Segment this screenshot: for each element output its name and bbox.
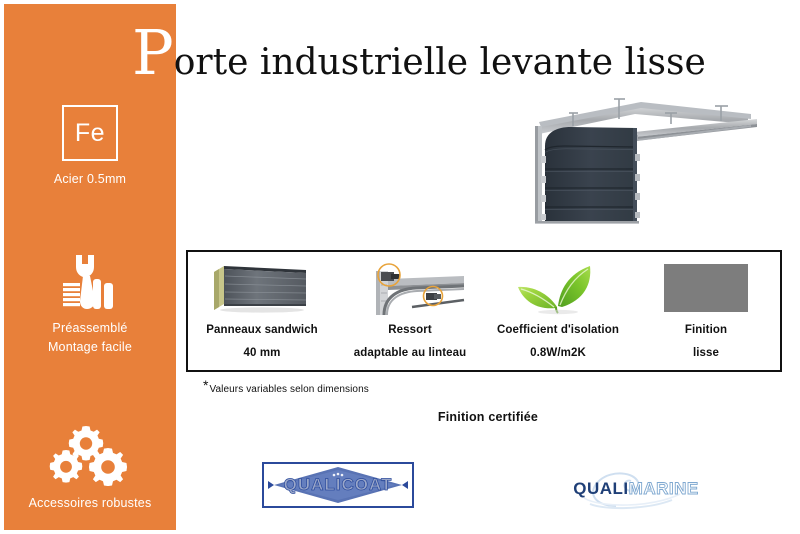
feature-column-isolation: Coefficient d'isolation 0.8W/m2K xyxy=(484,252,632,370)
feature-column-finition: Finition lisse xyxy=(632,252,780,370)
qualimarine-logo: QUALI MARINE xyxy=(560,468,712,510)
qualimarine-wordmark-primary: QUALI xyxy=(573,479,628,499)
sidebar-item-acier-label: Acier 0.5mm xyxy=(4,170,176,189)
qualicoat-logo: QUALICOAT xyxy=(262,462,414,508)
finish-swatch-icon xyxy=(632,257,780,319)
fe-square-icon: Fe xyxy=(62,105,118,161)
certification-label: Finition certifiée xyxy=(0,410,800,424)
feature-value-finition: lisse xyxy=(693,347,719,359)
feature-title-panneaux: Panneaux sandwich xyxy=(206,324,318,336)
feature-value-panneaux: 40 mm xyxy=(244,347,281,359)
industrial-sectional-door-image xyxy=(505,88,790,228)
wrench-assembly-icon xyxy=(4,249,176,311)
sidebar-item-preassemble-label-1: Préassemblé xyxy=(4,319,176,338)
sidebar-item-acier: Fe Acier 0.5mm xyxy=(4,105,176,189)
gears-icon xyxy=(4,424,176,486)
product-sheet-page: Fe Acier 0.5mm xyxy=(0,0,800,534)
sidebar-item-preassemble-label-2: Montage facile xyxy=(4,338,176,357)
sidebar-item-accessoires-label: Accessoires robustes xyxy=(4,494,176,513)
feature-title-ressort: Ressort xyxy=(388,324,432,336)
feature-column-ressort: Ressort adaptable au linteau xyxy=(336,252,484,370)
page-title-initial: P xyxy=(132,24,173,82)
sidebar-item-preassemble: Préassemblé Montage facile xyxy=(4,249,176,357)
sandwich-panel-image xyxy=(188,257,336,319)
footnote: * Valeurs variables selon dimensions xyxy=(203,380,369,395)
page-title: P orte industrielle levante lisse xyxy=(132,24,706,84)
features-panel: Panneaux sandwich 40 mm xyxy=(186,250,782,372)
page-title-rest: orte industrielle levante lisse xyxy=(174,43,706,83)
fe-symbol-label: Fe xyxy=(75,121,105,146)
spring-mechanism-image xyxy=(336,257,484,319)
feature-title-finition: Finition xyxy=(685,324,727,336)
footnote-asterisk: * xyxy=(203,380,208,390)
feature-value-isolation: 0.8W/m2K xyxy=(530,347,586,359)
feature-value-ressort: adaptable au linteau xyxy=(354,347,467,359)
feature-column-panneaux: Panneaux sandwich 40 mm xyxy=(188,252,336,370)
sidebar-item-accessoires: Accessoires robustes xyxy=(4,424,176,513)
green-leaves-icon xyxy=(484,257,632,319)
qualimarine-wordmark-secondary: MARINE xyxy=(629,479,699,499)
feature-title-isolation: Coefficient d'isolation xyxy=(497,324,619,336)
qualicoat-wordmark: QUALICOAT xyxy=(266,465,410,505)
footnote-text: Valeurs variables selon dimensions xyxy=(209,384,368,395)
